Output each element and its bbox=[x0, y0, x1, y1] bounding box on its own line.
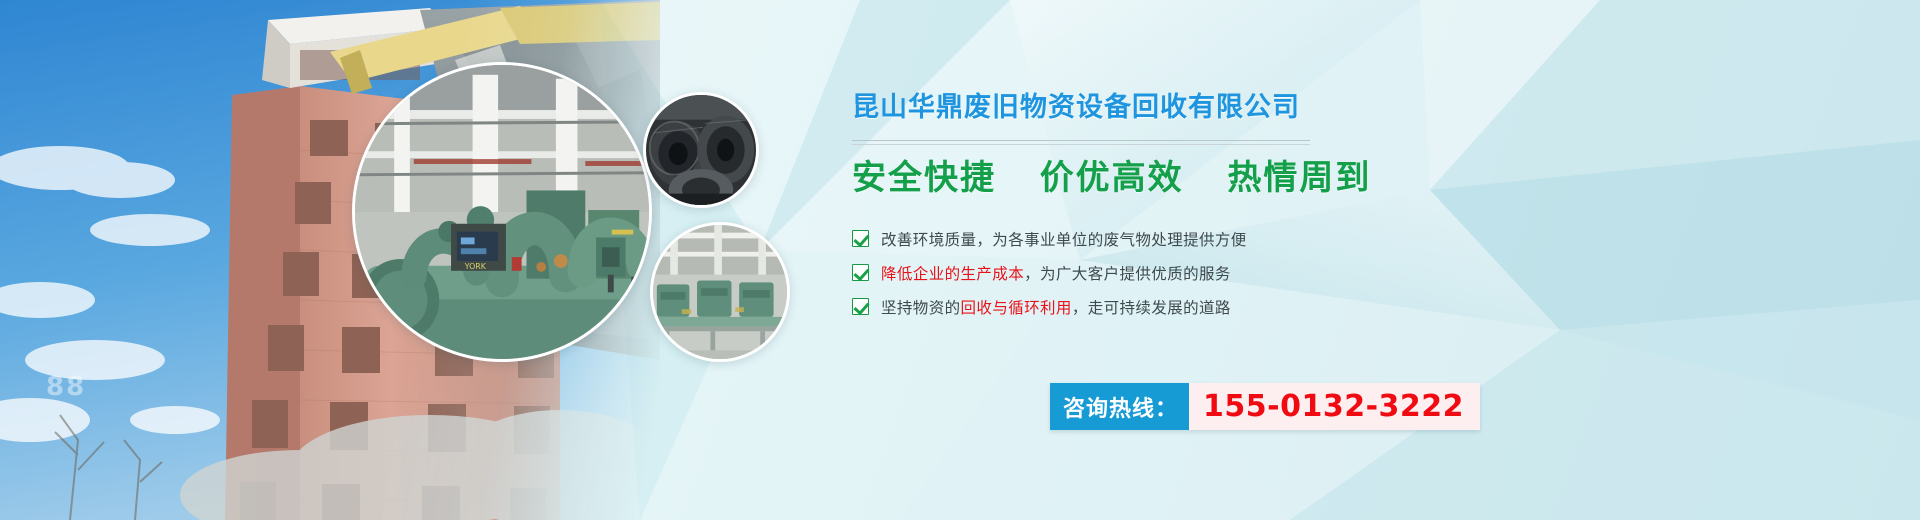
feature-text-plain-2: ，走可持续发展的道路 bbox=[1072, 299, 1231, 317]
feature-text-highlight: 回收与循环利用 bbox=[961, 299, 1072, 317]
svg-text:YORK: YORK bbox=[464, 262, 487, 271]
list-item: 降低企业的生产成本，为广大客户提供优质的服务 bbox=[852, 256, 1612, 290]
slogan-part-2: 价优高效 bbox=[1040, 158, 1184, 198]
slogan-part-1: 安全快捷 bbox=[852, 158, 996, 198]
steel-coil-circle-photo bbox=[643, 92, 759, 208]
feature-text-highlight: 降低企业的生产成本 bbox=[881, 265, 1024, 283]
hotline-number[interactable]: 155-0132-3222 bbox=[1189, 383, 1480, 430]
feature-text: 改善环境质量，为各事业单位的废气物处理提供方便 bbox=[881, 228, 1247, 250]
slogan-part-3: 热情周到 bbox=[1227, 158, 1371, 198]
slogan: 安全快捷 价优高效 热情周到 bbox=[852, 157, 1612, 200]
company-name: 昆山华鼎废旧物资设备回收有限公司 bbox=[852, 92, 1612, 124]
factory-workshop-circle-photo bbox=[650, 222, 790, 362]
hotline-label: 咨询热线： bbox=[1050, 383, 1189, 430]
hotline-box[interactable]: 咨询热线： 155-0132-3222 bbox=[1050, 383, 1480, 430]
feature-text: 降低企业的生产成本，为广大客户提供优质的服务 bbox=[881, 262, 1231, 284]
feature-list: 改善环境质量，为各事业单位的废气物处理提供方便 降低企业的生产成本，为广大客户提… bbox=[852, 222, 1612, 324]
feature-text-plain-2: ，为广大客户提供优质的服务 bbox=[1024, 265, 1231, 283]
check-icon bbox=[852, 298, 869, 315]
feature-text-plain-1: 改善环境质量，为各事业单位的废气物处理提供方便 bbox=[881, 231, 1247, 249]
check-icon bbox=[852, 264, 869, 281]
divider bbox=[852, 140, 1310, 145]
text-content-block: 昆山华鼎废旧物资设备回收有限公司 安全快捷 价优高效 热情周到 改善环境质量，为… bbox=[852, 92, 1612, 324]
feature-text-plain-1: 坚持物资的 bbox=[881, 299, 961, 317]
promo-banner: YORK bbox=[0, 0, 1920, 520]
chiller-machinery-circle-photo: YORK bbox=[352, 62, 652, 362]
list-item: 改善环境质量，为各事业单位的废气物处理提供方便 bbox=[852, 222, 1612, 256]
feature-text: 坚持物资的回收与循环利用，走可持续发展的道路 bbox=[881, 296, 1231, 318]
check-icon bbox=[852, 230, 869, 247]
list-item: 坚持物资的回收与循环利用，走可持续发展的道路 bbox=[852, 290, 1612, 324]
